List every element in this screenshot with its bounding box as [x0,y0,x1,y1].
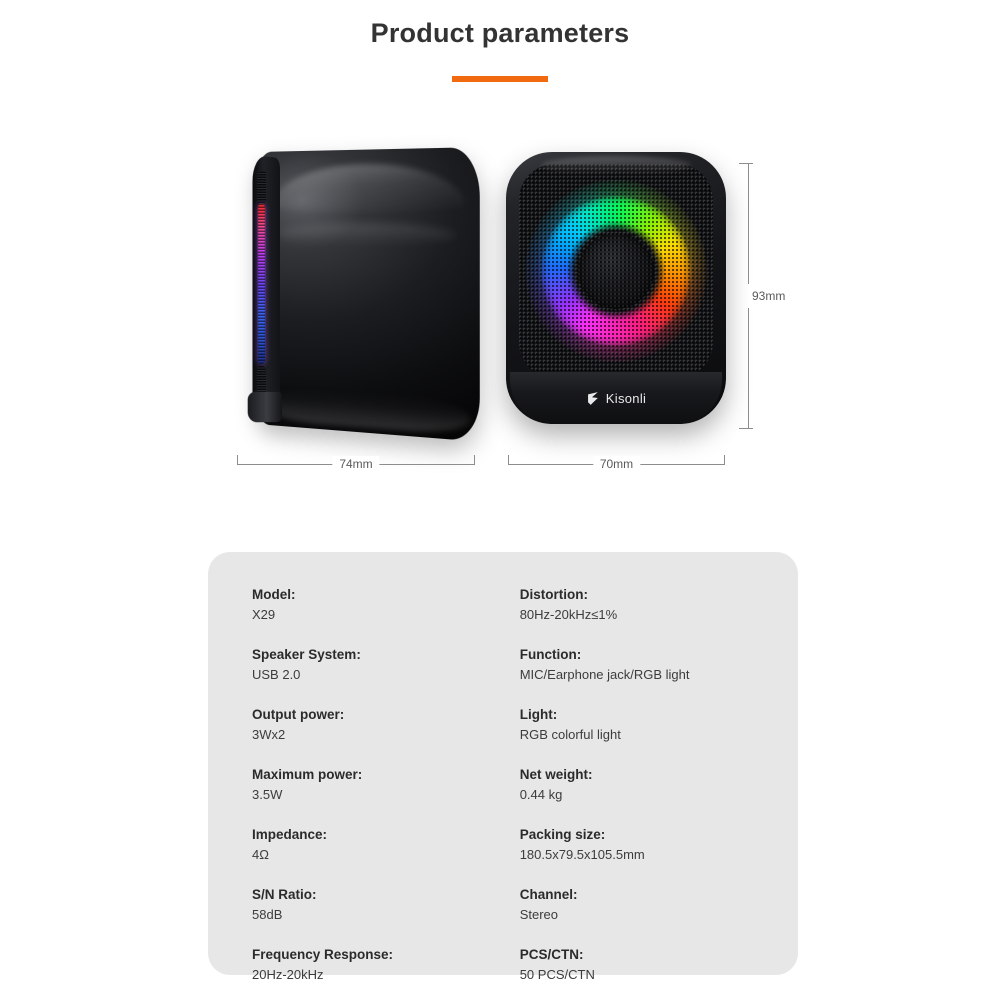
brand-name: Kisonli [606,391,646,406]
product-image-stage: Kisonli 74mm 70mm 93mm [0,130,1000,490]
spec-value: 3Wx2 [252,726,520,744]
spec-row: PCS/CTN: 50 PCS/CTN [520,946,772,984]
side-gloss-bottom [264,384,470,435]
spec-row: Impedance: 4Ω [252,826,520,864]
spec-value: 50 PCS/CTN [520,966,772,984]
specifications-right-column: Distortion: 80Hz-20kHz≤1% Function: MIC/… [520,586,772,984]
spec-label: S/N Ratio: [252,886,520,904]
dimension-side-width: 74mm [237,455,475,473]
spec-label: Output power: [252,706,520,724]
side-gloss-mid [277,223,456,247]
spec-value: Stereo [520,906,772,924]
specifications-left-column: Model: X29 Speaker System: USB 2.0 Outpu… [252,586,520,984]
spec-value: MIC/Earphone jack/RGB light [520,666,772,684]
speaker-front-view: Kisonli [506,152,726,424]
dimension-cap-bottom [739,428,753,429]
dimension-cap-right [724,455,725,465]
spec-value: 4Ω [252,846,520,864]
spec-label: Model: [252,586,520,604]
spec-row: Packing size: 180.5x79.5x105.5mm [520,826,772,864]
spec-label: Frequency Response: [252,946,520,964]
spec-label: Light: [520,706,772,724]
dimension-cap-left [237,455,238,465]
spec-row: Maximum power: 3.5W [252,766,520,804]
spec-row: Model: X29 [252,586,520,624]
speaker-front-grille-area [519,164,713,378]
spec-value: X29 [252,606,520,624]
spec-value: 58dB [252,906,520,924]
spec-row: Light: RGB colorful light [520,706,772,744]
dimension-cap-right [474,455,475,465]
speaker-side-view [240,148,472,428]
dimension-cap-top [739,163,753,164]
spec-value: 20Hz-20kHz [252,966,520,984]
spec-row: Speaker System: USB 2.0 [252,646,520,684]
product-parameters-page: Product parameters [0,0,1000,1000]
spec-row: Output power: 3Wx2 [252,706,520,744]
spec-value: 3.5W [252,786,520,804]
speaker-side-foot [248,392,282,423]
speaker-side-body [256,147,480,442]
spec-label: Packing size: [520,826,772,844]
spec-row: Channel: Stereo [520,886,772,924]
spec-row: Frequency Response: 20Hz-20kHz [252,946,520,984]
spec-label: Channel: [520,886,772,904]
dimension-label-height: 93mm [748,284,789,308]
speaker-base-bezel: Kisonli [510,372,722,424]
rgb-light-strip-mesh [258,204,265,364]
spec-row: Distortion: 80Hz-20kHz≤1% [520,586,772,624]
spec-value: USB 2.0 [252,666,520,684]
spec-value: 80Hz-20kHz≤1% [520,606,772,624]
title-accent-rule [452,76,548,82]
spec-row: Function: MIC/Earphone jack/RGB light [520,646,772,684]
dimension-front-width: 70mm [508,455,725,473]
specifications-panel: Model: X29 Speaker System: USB 2.0 Outpu… [208,552,798,975]
speaker-driver-mesh [578,233,654,309]
dimension-cap-left [508,455,509,465]
spec-label: Distortion: [520,586,772,604]
spec-value: RGB colorful light [520,726,772,744]
spec-label: Speaker System: [252,646,520,664]
dimension-height: 93mm [739,163,757,429]
specifications-columns: Model: X29 Speaker System: USB 2.0 Outpu… [252,586,772,984]
spec-row: S/N Ratio: 58dB [252,886,520,924]
speaker-side-top-vent [257,170,266,204]
spec-label: Function: [520,646,772,664]
kisonli-k-mark-icon [586,391,601,406]
spec-value: 180.5x79.5x105.5mm [520,846,772,864]
dimension-label-front-width: 70mm [593,456,640,472]
page-title: Product parameters [0,18,1000,49]
speaker-driver-dome [578,233,654,309]
side-gloss-top [273,162,466,212]
spec-label: PCS/CTN: [520,946,772,964]
spec-label: Maximum power: [252,766,520,784]
spec-row: Net weight: 0.44 kg [520,766,772,804]
dimension-label-side-width: 74mm [332,456,379,472]
spec-value: 0.44 kg [520,786,772,804]
spec-label: Impedance: [252,826,520,844]
spec-label: Net weight: [520,766,772,784]
